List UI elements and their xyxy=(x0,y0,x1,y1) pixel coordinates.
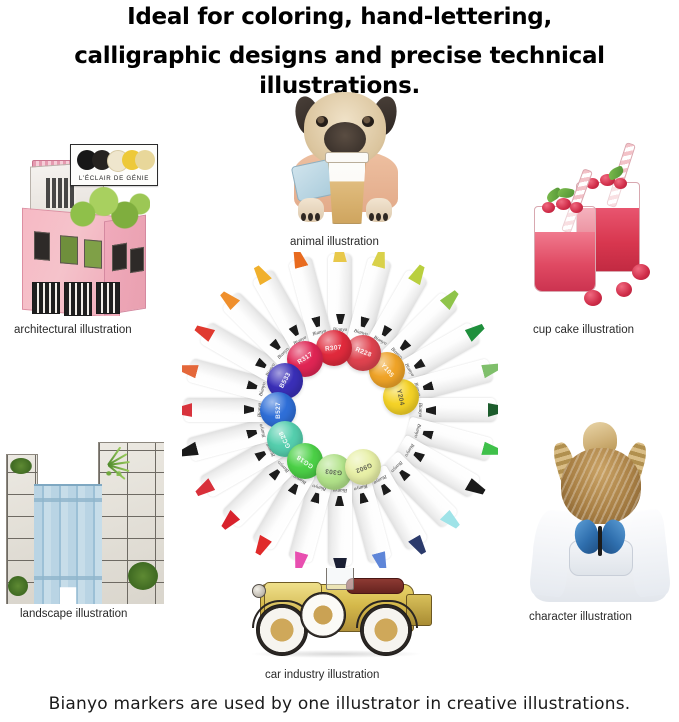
caption-animal: animal illustration xyxy=(290,236,379,248)
windshield xyxy=(326,566,354,590)
raspberry xyxy=(614,178,627,189)
pug-toe xyxy=(369,213,374,221)
raspberry xyxy=(556,198,571,210)
car-illustration-image xyxy=(234,558,446,664)
wheel-rear xyxy=(360,604,412,656)
marker-cap-code: GC28 xyxy=(278,429,293,448)
shop-sign-text: L'ÉCLAIR DE GÉNIE xyxy=(71,175,157,182)
smoothie-liquid xyxy=(535,232,595,291)
marker-cap-code: B533 xyxy=(278,372,292,390)
marker-color-wheel-image: BianyoBianyoBianyoBianyoBianyoBianyoBian… xyxy=(182,252,498,568)
pug-eye-right xyxy=(362,116,374,127)
marker-cap-code: G902 xyxy=(354,461,372,474)
rooftop-greenery xyxy=(66,184,150,234)
marker-cap-code: GG18 xyxy=(296,453,315,469)
window xyxy=(130,247,144,273)
caption-character: character illustration xyxy=(529,611,632,623)
caption-car: car industry illustration xyxy=(265,669,379,681)
pug-toe xyxy=(315,213,320,221)
marker-wheel-stage: BianyoBianyoBianyoBianyoBianyoBianyoBian… xyxy=(182,252,498,568)
awning xyxy=(96,282,120,314)
landscape-illustration-image xyxy=(6,436,164,604)
moss xyxy=(128,562,158,590)
moss xyxy=(8,576,28,596)
pug-paw-right xyxy=(366,198,392,222)
pug-toe xyxy=(383,213,388,221)
marker-cap-code: Y204 xyxy=(396,388,406,405)
butterfly-body xyxy=(598,526,602,556)
window xyxy=(34,231,50,260)
awning xyxy=(32,282,60,314)
shop-sign: L'ÉCLAIR DE GÉNIE xyxy=(70,144,158,186)
raspberry xyxy=(584,290,602,306)
wooden-gate xyxy=(34,484,102,604)
window xyxy=(112,243,127,271)
pug-toe xyxy=(308,213,313,221)
coffee-cup-lid xyxy=(325,152,369,163)
raspberry xyxy=(542,202,555,213)
car-seat xyxy=(346,578,404,594)
gate-rail xyxy=(34,576,102,580)
window xyxy=(60,235,78,265)
raspberry xyxy=(616,282,632,297)
caption-landscape: landscape illustration xyxy=(20,608,127,620)
caption-architectural: architectural illustration xyxy=(14,324,132,336)
marker-cap-code: R228 xyxy=(354,346,372,359)
product-info-page: Ideal for coloring, hand-lettering, call… xyxy=(0,0,679,722)
hair-bun xyxy=(561,448,641,524)
caption-cupcake: cup cake illustration xyxy=(533,324,634,336)
coffee-cup xyxy=(328,156,366,224)
window xyxy=(84,239,102,269)
plant-top xyxy=(102,450,136,476)
marker-cap-code: Y105 xyxy=(380,362,396,379)
headlamp xyxy=(252,584,266,598)
sign-eclair-graphics xyxy=(77,150,151,170)
gate-rail xyxy=(34,498,102,502)
pug-eye-left xyxy=(316,116,328,127)
pug-muzzle xyxy=(324,122,366,156)
arm-right xyxy=(627,508,672,597)
headline-line-1: Ideal for coloring, hand-lettering, xyxy=(0,2,679,32)
character-illustration-image xyxy=(527,414,673,604)
animal-illustration-image xyxy=(272,86,418,232)
awning xyxy=(64,282,92,316)
footer-text: Bianyo markers are used by one illustrat… xyxy=(0,694,679,714)
raspberry xyxy=(632,264,650,280)
marker-cap-code: G303 xyxy=(325,467,343,476)
marker-cap-code: B527 xyxy=(275,402,282,419)
pug-paw-left xyxy=(298,198,324,222)
butterfly xyxy=(575,520,625,562)
marker-cap-code: R307 xyxy=(325,344,342,353)
smoothie-glass-front xyxy=(534,206,596,292)
moss xyxy=(10,458,32,474)
pug-toe xyxy=(376,213,381,221)
sign-circle xyxy=(135,150,155,170)
marker-barrel xyxy=(328,480,352,566)
marker-barrel xyxy=(410,398,496,422)
raspberry xyxy=(570,202,583,213)
spare-wheel xyxy=(300,592,346,638)
pug-toe xyxy=(301,213,306,221)
cupcake-illustration-image xyxy=(524,140,672,316)
marker-cap-code: R317 xyxy=(296,351,314,366)
architectural-illustration-image: L'ÉCLAIR DE GÉNIE xyxy=(8,136,168,316)
